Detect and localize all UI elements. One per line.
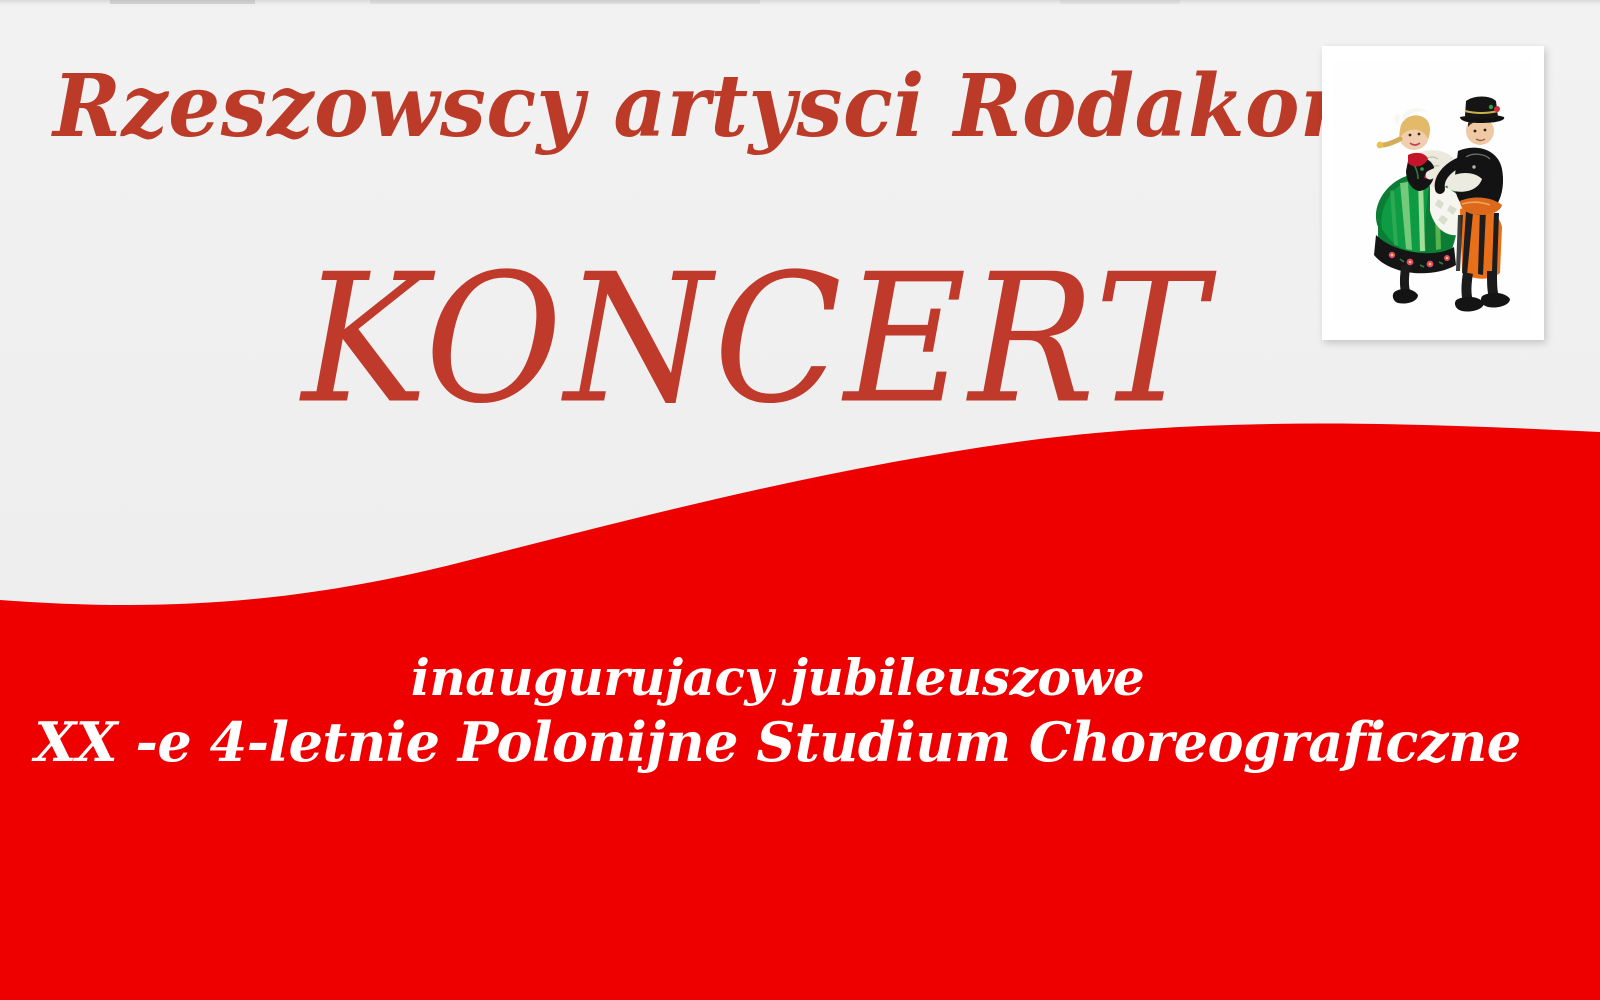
- main-title: KONCERT: [0, 250, 1510, 428]
- page-title: Rzeszowscy artysci Rodakom: [36, 62, 1404, 152]
- folk-dancers-photo: [1334, 59, 1532, 321]
- subtitle-block: inaugurujacy jubileuszowe XX -e 4-letnie…: [0, 648, 1555, 775]
- subtitle-line-1: inaugurujacy jubileuszowe: [0, 648, 1555, 707]
- subtitle-line-2: XX -e 4-letnie Polonijne Studium Choreog…: [0, 711, 1555, 775]
- folk-dancers-illustration: [1334, 59, 1532, 321]
- poster-canvas: Rzeszowscy artysci Rodakom KONCERT inaug…: [0, 0, 1600, 1000]
- photo-frame: [1322, 46, 1544, 340]
